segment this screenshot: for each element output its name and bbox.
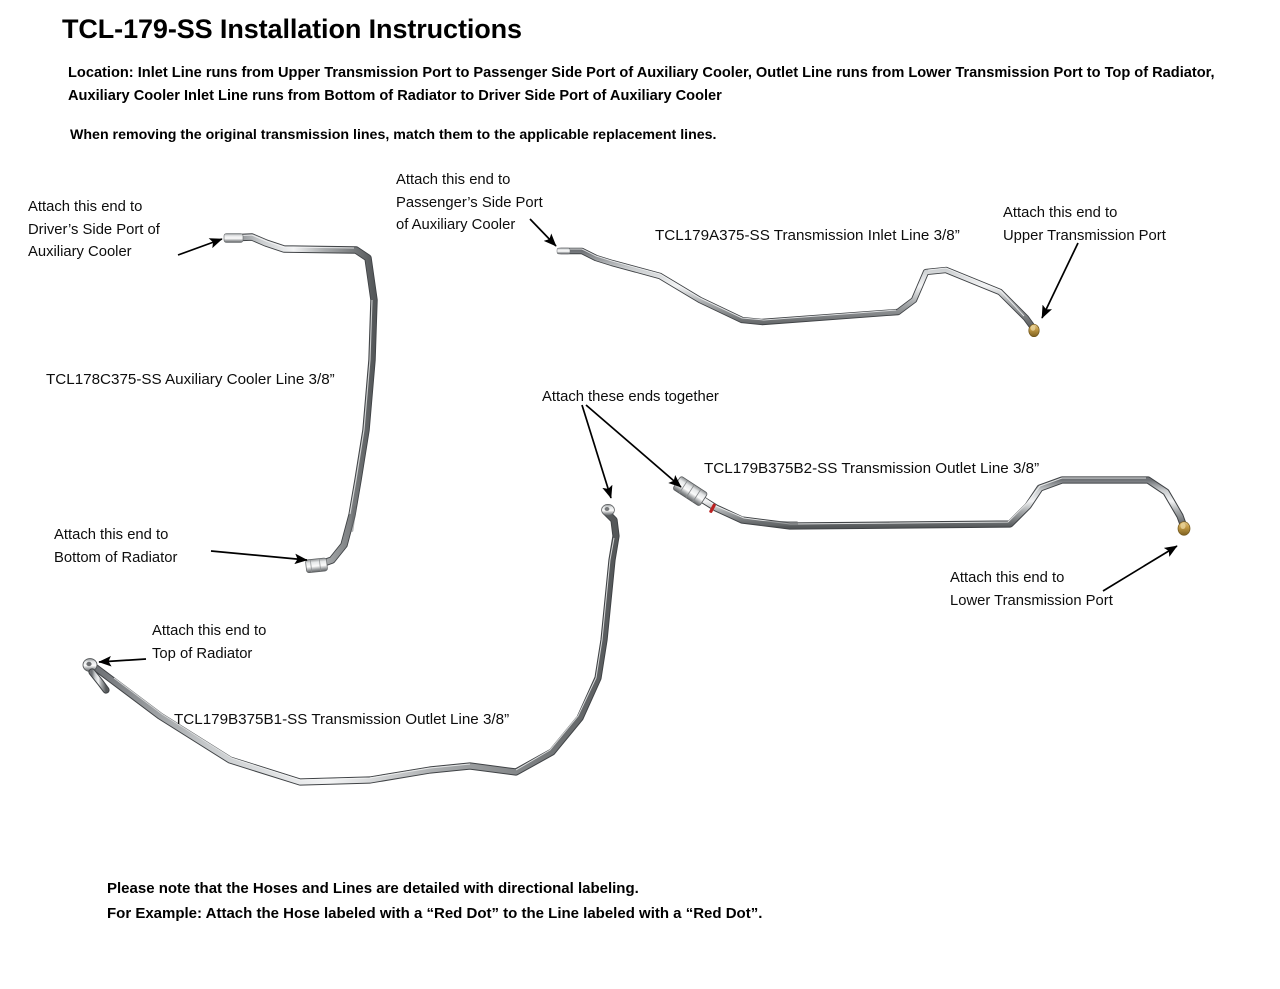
arrow-top-of-radiator bbox=[99, 659, 146, 662]
part-label-outlet-line-b1: TCL179B375B1-SS Transmission Outlet Line… bbox=[174, 711, 509, 728]
footer-note: Please note that the Hoses and Lines are… bbox=[107, 877, 762, 927]
arrow-bottom-of-radiator bbox=[211, 551, 307, 560]
page-title: TCL-179-SS Installation Instructions bbox=[62, 14, 522, 45]
arrow-lower-transmission-port bbox=[1103, 546, 1177, 591]
callout-passengers-side-port: Attach this end to Passenger’s Side Port… bbox=[396, 169, 543, 237]
callout-drivers-side-port: Attach this end to Driver’s Side Port of… bbox=[28, 196, 160, 264]
callout-ends-together: Attach these ends together bbox=[542, 386, 719, 409]
part-label-aux-cooler-line: TCL178C375-SS Auxiliary Cooler Line 3/8” bbox=[46, 371, 335, 388]
callout-bottom-of-radiator: Attach this end to Bottom of Radiator bbox=[54, 524, 177, 569]
location-paragraph: Location: Inlet Line runs from Upper Tra… bbox=[68, 62, 1220, 107]
diagram-graphics bbox=[0, 0, 1280, 989]
part-aux-cooler-line-graphic bbox=[224, 234, 374, 573]
callout-upper-transmission-port: Attach this end to Upper Transmission Po… bbox=[1003, 202, 1166, 247]
part-label-inlet-line: TCL179A375-SS Transmission Inlet Line 3/… bbox=[655, 227, 960, 244]
arrow-upper-transmission-port bbox=[1042, 243, 1078, 318]
part-outlet-line-b2-graphic bbox=[673, 476, 1190, 535]
arrow-ends-together-left bbox=[582, 405, 611, 498]
callout-lower-transmission-port: Attach this end to Lower Transmission Po… bbox=[950, 567, 1113, 612]
part-inlet-line-graphic bbox=[557, 248, 1039, 337]
arrow-ends-together-right bbox=[586, 405, 681, 487]
arrow-drivers-side-port bbox=[178, 239, 222, 255]
part-label-outlet-line-b2: TCL179B375B2-SS Transmission Outlet Line… bbox=[704, 460, 1039, 477]
match-paragraph: When removing the original transmission … bbox=[70, 126, 1070, 146]
callout-top-of-radiator: Attach this end to Top of Radiator bbox=[152, 620, 266, 665]
installation-instructions-page: TCL-179-SS Installation Instructions Loc… bbox=[0, 0, 1280, 989]
